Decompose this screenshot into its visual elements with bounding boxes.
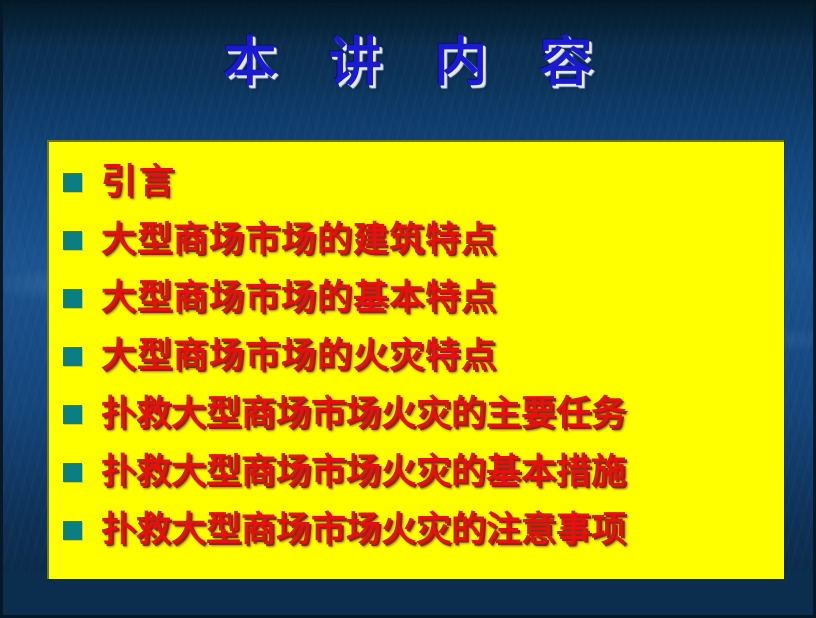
list-item-label: 扑救大型商场市场火灾的基本措施 xyxy=(101,455,626,490)
list-item[interactable]: 扑救大型商场市场火灾的基本措施 xyxy=(49,443,784,501)
list-item-label: 大型商场市场的基本特点 xyxy=(101,281,497,316)
square-bullet-icon xyxy=(63,347,82,366)
list-item-label: 大型商场市场的建筑特点 xyxy=(101,223,497,258)
content-panel: 引言 大型商场市场的建筑特点 大型商场市场的基本特点 大型商场市场的火灾特点 扑… xyxy=(47,140,784,579)
list-item[interactable]: 大型商场市场的建筑特点 xyxy=(49,211,784,269)
square-bullet-icon xyxy=(63,405,82,424)
list-item-label: 大型商场市场的火灾特点 xyxy=(101,339,497,374)
list-item[interactable]: 大型商场市场的火灾特点 xyxy=(49,327,784,385)
list-item[interactable]: 扑救大型商场市场火灾的注意事项 xyxy=(49,501,784,559)
agenda-list: 引言 大型商场市场的建筑特点 大型商场市场的基本特点 大型商场市场的火灾特点 扑… xyxy=(49,142,784,579)
square-bullet-icon xyxy=(63,521,82,540)
list-item[interactable]: 大型商场市场的基本特点 xyxy=(49,269,784,327)
square-bullet-icon xyxy=(63,173,82,192)
list-item[interactable]: 扑救大型商场市场火灾的主要任务 xyxy=(49,385,784,443)
presentation-slide: 本 讲 内 容 引言 大型商场市场的建筑特点 大型商场市场的基本特点 大型商场市… xyxy=(0,0,816,618)
list-item-label: 扑救大型商场市场火灾的主要任务 xyxy=(101,397,626,432)
list-item-label: 扑救大型商场市场火灾的注意事项 xyxy=(101,513,626,548)
square-bullet-icon xyxy=(63,463,82,482)
square-bullet-icon xyxy=(63,289,82,308)
slide-title: 本 讲 内 容 xyxy=(3,35,813,91)
list-item[interactable]: 引言 xyxy=(49,153,784,211)
list-item-label: 引言 xyxy=(101,165,177,200)
square-bullet-icon xyxy=(63,231,82,250)
